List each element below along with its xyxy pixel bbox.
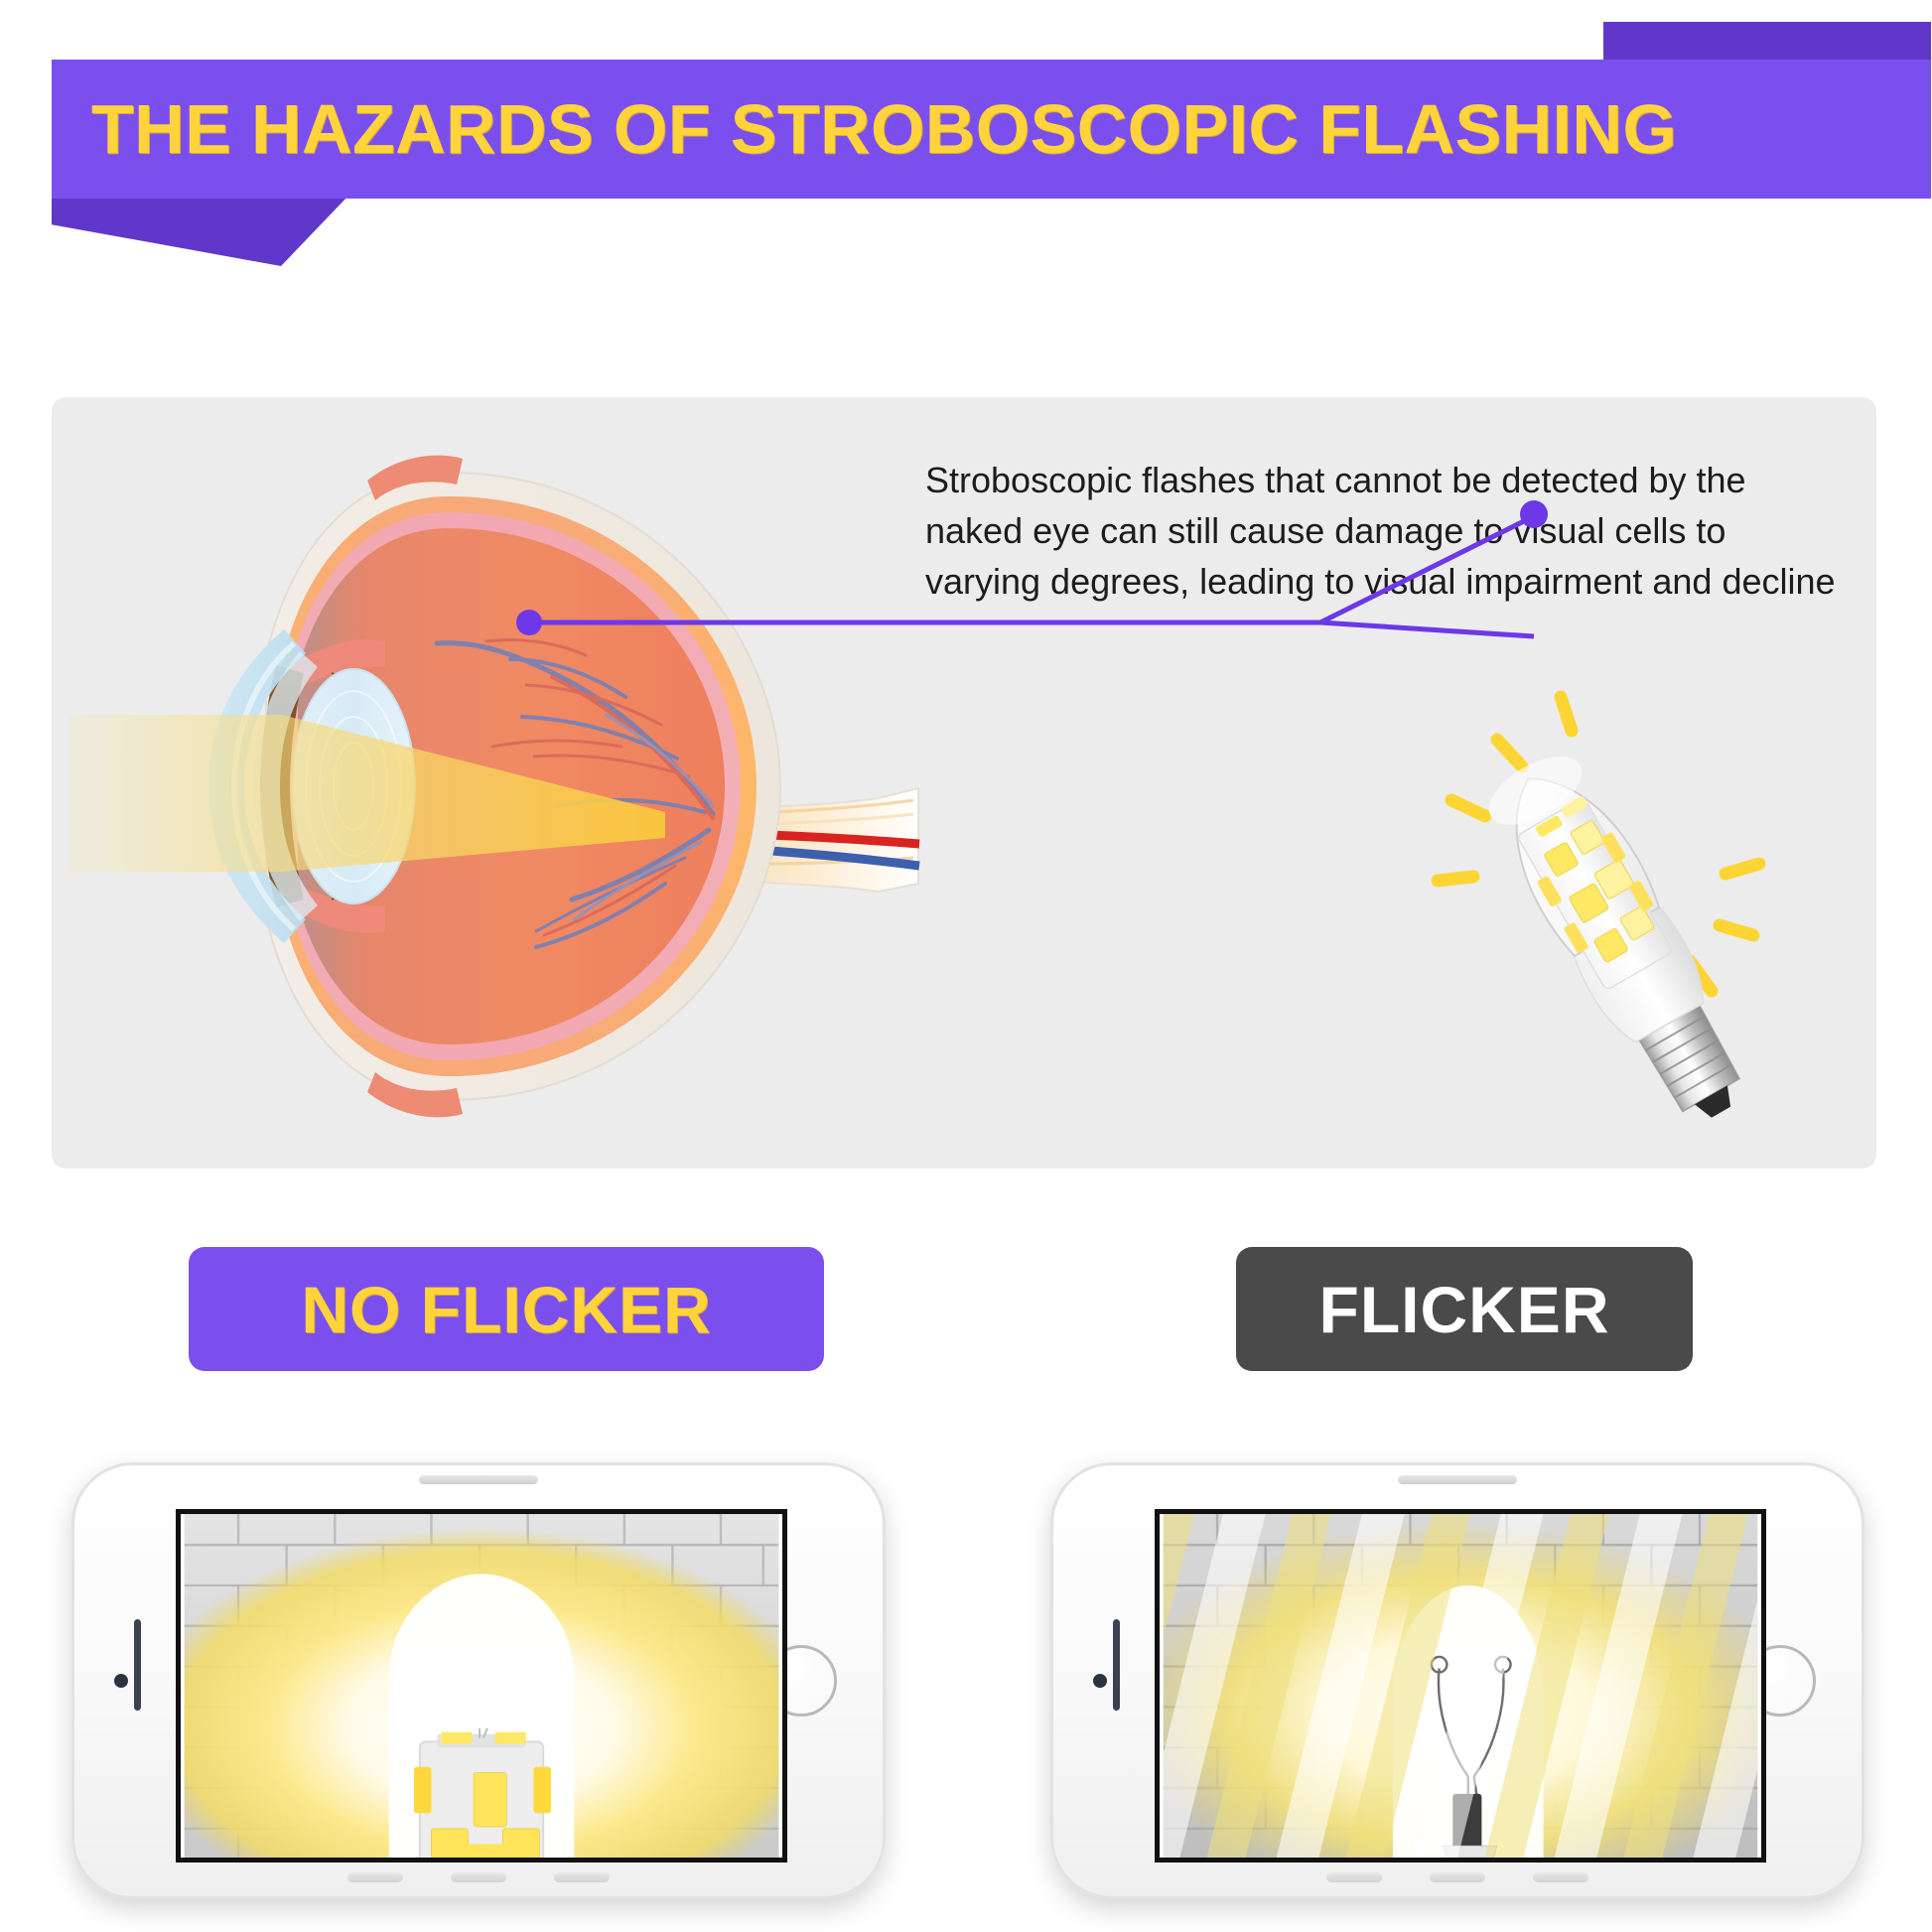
badge-flicker-label: FLICKER	[1319, 1272, 1610, 1347]
phone-earpiece	[134, 1619, 141, 1711]
phone-bottom-ports	[347, 1872, 610, 1882]
phone-top-notch	[1398, 1475, 1517, 1484]
eye-diagram	[69, 417, 943, 1152]
screen-photo-no-banding	[181, 1514, 782, 1858]
phone-front-camera-icon	[1093, 1674, 1107, 1688]
phone-flicker	[1050, 1462, 1864, 1899]
title-banner: THE HAZARDS OF STROBOSCOPIC FLASHING	[0, 0, 1932, 298]
phone-bottom-ports	[1326, 1872, 1588, 1882]
screen-led-bulb	[414, 1728, 551, 1858]
ribbon-fold-bottom-left	[52, 195, 349, 266]
phone-screen-flicker	[1155, 1509, 1766, 1863]
page-title: THE HAZARDS OF STROBOSCOPIC FLASHING	[52, 94, 1677, 164]
phone-no-flicker	[71, 1462, 886, 1899]
bulb-body	[1475, 741, 1768, 1139]
phone-earpiece	[1113, 1619, 1120, 1711]
phone-top-notch	[419, 1475, 538, 1484]
badge-no-flicker: NO FLICKER	[189, 1247, 824, 1371]
eye-cross-section-icon	[69, 417, 943, 1152]
badge-flicker: FLICKER	[1236, 1247, 1693, 1371]
led-bulb-illustration	[1410, 675, 1797, 1142]
ribbon-band: THE HAZARDS OF STROBOSCOPIC FLASHING	[52, 60, 1931, 199]
phone-screen-no-flicker	[176, 1509, 787, 1863]
infographic-canvas: THE HAZARDS OF STROBOSCOPIC FLASHING	[0, 0, 1932, 1932]
phone-front-camera-icon	[114, 1674, 128, 1688]
screen-photo-with-banding	[1160, 1514, 1761, 1858]
hero-description: Stroboscopic flashes that cannot be dete…	[925, 455, 1849, 607]
led-bulb-icon	[1410, 675, 1797, 1142]
badge-no-flicker-label: NO FLICKER	[301, 1272, 711, 1347]
